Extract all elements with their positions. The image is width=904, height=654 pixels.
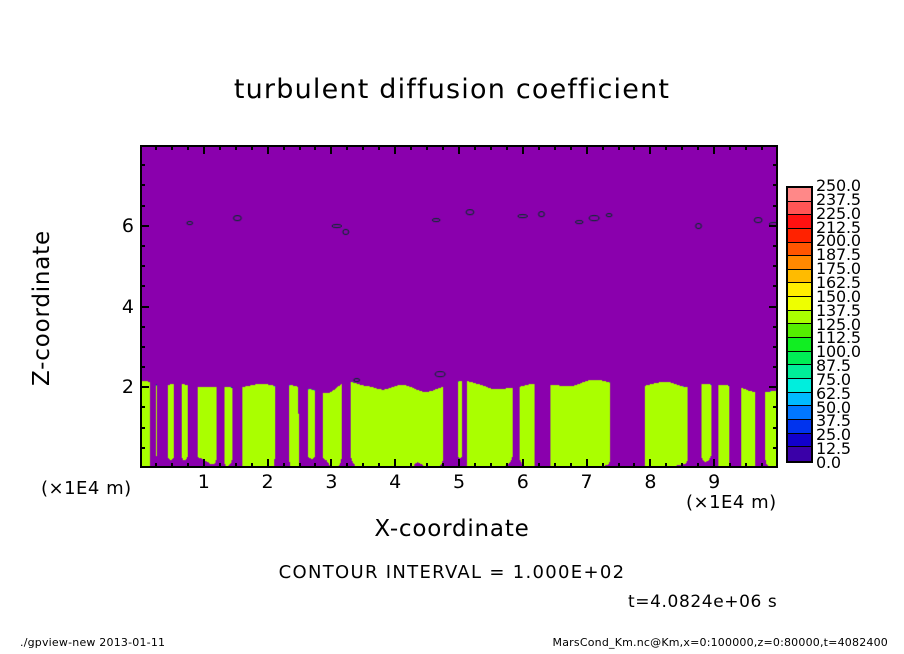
colorbar-band (788, 311, 811, 325)
tick-mark (203, 459, 205, 468)
tick-mark (362, 145, 364, 150)
tick-mark (251, 145, 253, 150)
tick-mark (649, 459, 651, 468)
tick-mark (633, 145, 635, 150)
tick-mark (586, 459, 588, 468)
x-unit-label-right: (×1E4 m) (686, 492, 777, 513)
tick-mark (235, 145, 237, 150)
tick-mark (773, 346, 778, 348)
tick-mark (140, 346, 145, 348)
tick-mark (618, 463, 620, 468)
tick-mark (773, 326, 778, 328)
tick-mark (410, 145, 412, 150)
colorbar-band (788, 406, 811, 420)
tick-mark (283, 145, 285, 150)
tick-mark (219, 463, 221, 468)
colorbar-band (788, 393, 811, 407)
colorbar-band (788, 365, 811, 379)
tick-mark (171, 463, 173, 468)
colorbar-band (788, 215, 811, 229)
tick-mark (140, 326, 145, 328)
tick-mark (267, 145, 269, 154)
tick-mark (394, 459, 396, 468)
tick-mark (522, 145, 524, 154)
colorbar-band (788, 447, 811, 461)
tick-mark (346, 463, 348, 468)
tick-mark (140, 285, 145, 287)
colorbar-band (788, 324, 811, 338)
tick-mark (378, 463, 380, 468)
x-tick-label: 3 (316, 471, 346, 493)
tick-mark (171, 145, 173, 150)
time-label: t=4.0824e+06 s (628, 592, 777, 612)
tick-mark (140, 205, 145, 207)
colorbar-band (788, 243, 811, 257)
colorbar-label: 0.0 (816, 455, 841, 471)
colorbar-band (788, 256, 811, 270)
tick-mark (538, 463, 540, 468)
tick-mark (140, 447, 145, 449)
colorbar-band (788, 283, 811, 297)
tick-mark (761, 463, 763, 468)
tick-mark (140, 427, 145, 429)
x-tick-label: 6 (508, 471, 538, 493)
contour-interval-label: CONTOUR INTERVAL = 1.000E+02 (0, 562, 904, 583)
footer-source-label: MarsCond_Km.nc@Km,x=0:100000,z=0:80000,t… (553, 636, 888, 649)
tick-mark (633, 463, 635, 468)
tick-mark (729, 145, 731, 150)
colorbar-band (788, 297, 811, 311)
x-tick-label: 2 (253, 471, 283, 493)
tick-mark (773, 265, 778, 267)
tick-mark (773, 205, 778, 207)
tick-mark (187, 463, 189, 468)
y-axis-title: Z-coordinate (29, 203, 55, 413)
tick-mark (346, 145, 348, 150)
x-tick-label: 7 (572, 471, 602, 493)
colorbar-band (788, 379, 811, 393)
tick-mark (602, 145, 604, 150)
tick-mark (474, 463, 476, 468)
tick-mark (140, 366, 145, 368)
tick-mark (140, 265, 145, 267)
tick-mark (410, 463, 412, 468)
tick-mark (554, 145, 556, 150)
tick-mark (140, 245, 145, 247)
x-tick-label: 1 (189, 471, 219, 493)
tick-mark (314, 145, 316, 150)
tick-mark (761, 145, 763, 150)
tick-mark (283, 463, 285, 468)
tick-mark (618, 145, 620, 150)
tick-mark (140, 184, 145, 186)
colorbar-band (788, 202, 811, 216)
tick-mark (665, 145, 667, 150)
tick-mark (729, 463, 731, 468)
tick-mark (299, 145, 301, 150)
tick-mark (140, 164, 145, 166)
tick-mark (773, 285, 778, 287)
tick-mark (474, 145, 476, 150)
colorbar-band (788, 270, 811, 284)
tick-mark (713, 459, 715, 468)
tick-mark (267, 459, 269, 468)
footer-command-label: ./gpview-new 2013-01-11 (20, 636, 165, 649)
tick-mark (773, 245, 778, 247)
colorbar-band (788, 229, 811, 243)
tick-mark (140, 225, 149, 227)
tick-mark (602, 463, 604, 468)
colorbar-band (788, 434, 811, 448)
colorbar-band (788, 188, 811, 202)
tick-mark (140, 386, 149, 388)
tick-mark (769, 386, 778, 388)
tick-mark (314, 463, 316, 468)
tick-mark (140, 406, 145, 408)
tick-mark (586, 145, 588, 154)
tick-mark (203, 145, 205, 154)
tick-mark (458, 459, 460, 468)
tick-mark (394, 145, 396, 154)
tick-mark (155, 145, 157, 150)
tick-mark (773, 366, 778, 368)
tick-mark (490, 145, 492, 150)
tick-mark (442, 145, 444, 150)
tick-mark (506, 145, 508, 150)
colorbar (786, 186, 813, 463)
tick-mark (442, 463, 444, 468)
tick-mark (155, 463, 157, 468)
tick-mark (665, 463, 667, 468)
tick-mark (458, 145, 460, 154)
tick-mark (769, 306, 778, 308)
x-unit-label-left: (×1E4 m) (41, 478, 132, 499)
y-tick-label: 6 (108, 215, 134, 237)
tick-mark (773, 406, 778, 408)
tick-mark (681, 463, 683, 468)
y-tick-label: 2 (108, 376, 134, 398)
tick-mark (570, 463, 572, 468)
x-tick-label: 9 (699, 471, 729, 493)
x-tick-label: 5 (444, 471, 474, 493)
tick-mark (426, 463, 428, 468)
tick-mark (426, 145, 428, 150)
tick-mark (745, 463, 747, 468)
tick-mark (522, 459, 524, 468)
tick-mark (773, 427, 778, 429)
tick-mark (251, 463, 253, 468)
tick-mark (773, 184, 778, 186)
colorbar-tick-labels: 250.0237.5225.0212.5200.0187.5175.0162.5… (816, 178, 900, 473)
tick-mark (490, 463, 492, 468)
tick-mark (697, 145, 699, 150)
tick-mark (506, 463, 508, 468)
tick-mark (378, 145, 380, 150)
page-title: turbulent diffusion coefficient (0, 74, 904, 105)
tick-mark (570, 145, 572, 150)
tick-mark (713, 145, 715, 154)
tick-mark (235, 463, 237, 468)
tick-mark (187, 145, 189, 150)
x-axis-title: X-coordinate (0, 516, 904, 542)
tick-mark (219, 145, 221, 150)
tick-mark (538, 145, 540, 150)
tick-mark (773, 447, 778, 449)
colorbar-band (788, 338, 811, 352)
x-tick-label: 4 (380, 471, 410, 493)
contour-plot-area (140, 145, 778, 468)
tick-mark (362, 463, 364, 468)
tick-mark (330, 145, 332, 154)
colorbar-band (788, 352, 811, 366)
y-tick-label: 4 (108, 296, 134, 318)
tick-mark (773, 164, 778, 166)
colorbar-band (788, 420, 811, 434)
tick-mark (745, 145, 747, 150)
x-tick-label: 8 (635, 471, 665, 493)
tick-mark (769, 225, 778, 227)
turbulence-field-canvas (142, 147, 776, 466)
tick-mark (299, 463, 301, 468)
tick-mark (140, 306, 149, 308)
tick-mark (681, 145, 683, 150)
tick-mark (330, 459, 332, 468)
tick-mark (697, 463, 699, 468)
tick-mark (554, 463, 556, 468)
tick-mark (649, 145, 651, 154)
